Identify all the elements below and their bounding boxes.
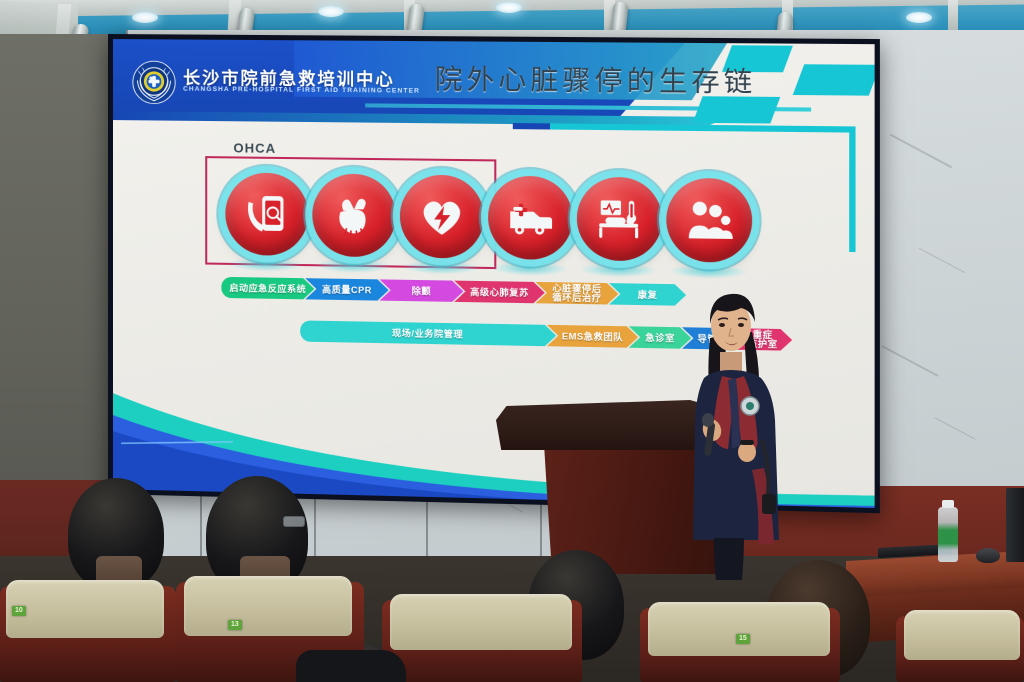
recessed-downlight [318, 6, 344, 17]
chain-arrow: 心脏骤停后循环后治疗 [536, 282, 619, 305]
ambulance-icon [488, 176, 573, 261]
foreground-bag [296, 650, 406, 682]
heart-defibrillation-icon [400, 175, 484, 259]
chain-arrow: 高质量CPR [305, 278, 388, 301]
decor-cyan-line-vertical [849, 126, 855, 252]
ceiling-beam [948, 0, 958, 30]
hospital-bed-monitor-icon [577, 177, 662, 262]
recessed-downlight [906, 12, 932, 23]
water-bottle [938, 500, 958, 562]
slide-title: 院外心脏骤停的生存链 [435, 57, 757, 99]
chain-arrow: 康复 [609, 283, 686, 306]
screenshot-root: 长沙市院前急救培训中心 CHANGSHA PRE-HOSPITAL FIRST … [0, 0, 1024, 682]
seat-number: 15 [736, 634, 750, 644]
chain-arrow: 高级心肺复苏 [454, 281, 545, 304]
ohca-label: OHCA [233, 140, 276, 156]
chain-arrow: EMS急救团队 [547, 325, 638, 348]
family-group-icon [666, 178, 752, 263]
seat-number: 13 [228, 620, 242, 630]
decor-parallelogram [693, 96, 781, 123]
chain-arrow-label: 高级心肺复苏 [470, 285, 529, 299]
training-center-logo-icon [131, 59, 177, 105]
chain-arrow-label: 高质量CPR [322, 282, 372, 296]
chain-arrow-label: 启动应急反应系统 [229, 281, 306, 295]
decor-blue-line [513, 123, 550, 129]
chain-arrow-label: 康复 [638, 288, 658, 302]
chain-arrow-label: 心脏骤停后循环后治疗 [552, 284, 601, 303]
presenter [690, 280, 795, 580]
chain-arrow: 除颤 [379, 279, 463, 302]
decor-parallelogram [793, 64, 875, 95]
chain-arrow-label: EMS急救团队 [562, 329, 623, 343]
computer-mouse[interactable] [976, 548, 1000, 563]
decor-cyan-line [550, 123, 853, 132]
chain-arrow: 现场/业务院管理 [300, 320, 556, 346]
monitor [1006, 488, 1024, 562]
chain-arrow-label: 除颤 [412, 284, 431, 297]
chain-arrow: 急诊室 [629, 326, 692, 349]
chain-arrow-label: 急诊室 [645, 331, 675, 345]
chain-arrow-label: 现场/业务院管理 [392, 326, 463, 340]
eyeglasses [283, 516, 305, 527]
recessed-downlight [496, 2, 522, 13]
cpr-hands-icon [312, 173, 395, 257]
chain-arrow: 启动应急反应系统 [221, 277, 314, 300]
phone-call-icon [225, 172, 308, 256]
seat-number: 10 [12, 606, 26, 616]
recessed-downlight [132, 12, 158, 23]
